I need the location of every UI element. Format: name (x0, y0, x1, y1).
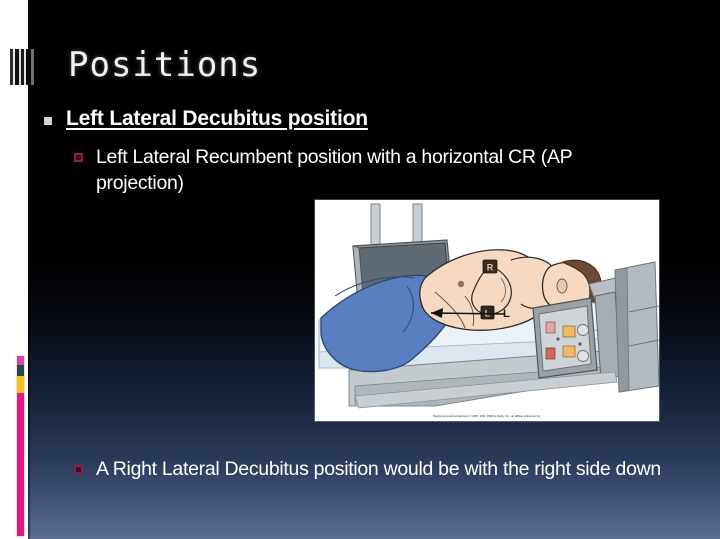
presentation-slide: Positions Left Lateral Decubitus positio… (0, 0, 720, 539)
figure-svg: R L L (315, 200, 659, 421)
bullet-level2-first: Left Lateral Recumbent position with a h… (74, 144, 674, 197)
barcode-decor-icon (10, 49, 34, 85)
slide-title: Positions (68, 45, 261, 85)
bullet-level1-label: Left Lateral Decubitus position (66, 107, 368, 131)
bullet-level2-first-label: Left Lateral Recumbent position with a h… (96, 144, 656, 197)
colorbar-segment-pink-cap (17, 356, 24, 365)
bullet-hollow-square-marker-icon (74, 465, 83, 474)
bullet-hollow-square-marker-icon (74, 153, 83, 162)
figure-caption: Mosby items and derived items © 2007, 20… (315, 415, 659, 418)
bullet-level2-last-label: A Right Lateral Decubitus position would… (96, 456, 661, 482)
colorbar-segment-yellow-band (17, 376, 24, 393)
figure-lateral-decubitus: R L L (315, 200, 659, 421)
bullet-level1: Left Lateral Decubitus position (44, 107, 368, 131)
bullet-level2-last: A Right Lateral Decubitus position would… (74, 456, 674, 482)
colorbar-segment-teal-band (17, 365, 24, 376)
color-accent-bar (17, 356, 24, 536)
svg-text:R: R (487, 263, 494, 273)
bullet-square-marker-icon (44, 117, 52, 125)
colorbar-segment-magenta-shaft (17, 393, 24, 536)
